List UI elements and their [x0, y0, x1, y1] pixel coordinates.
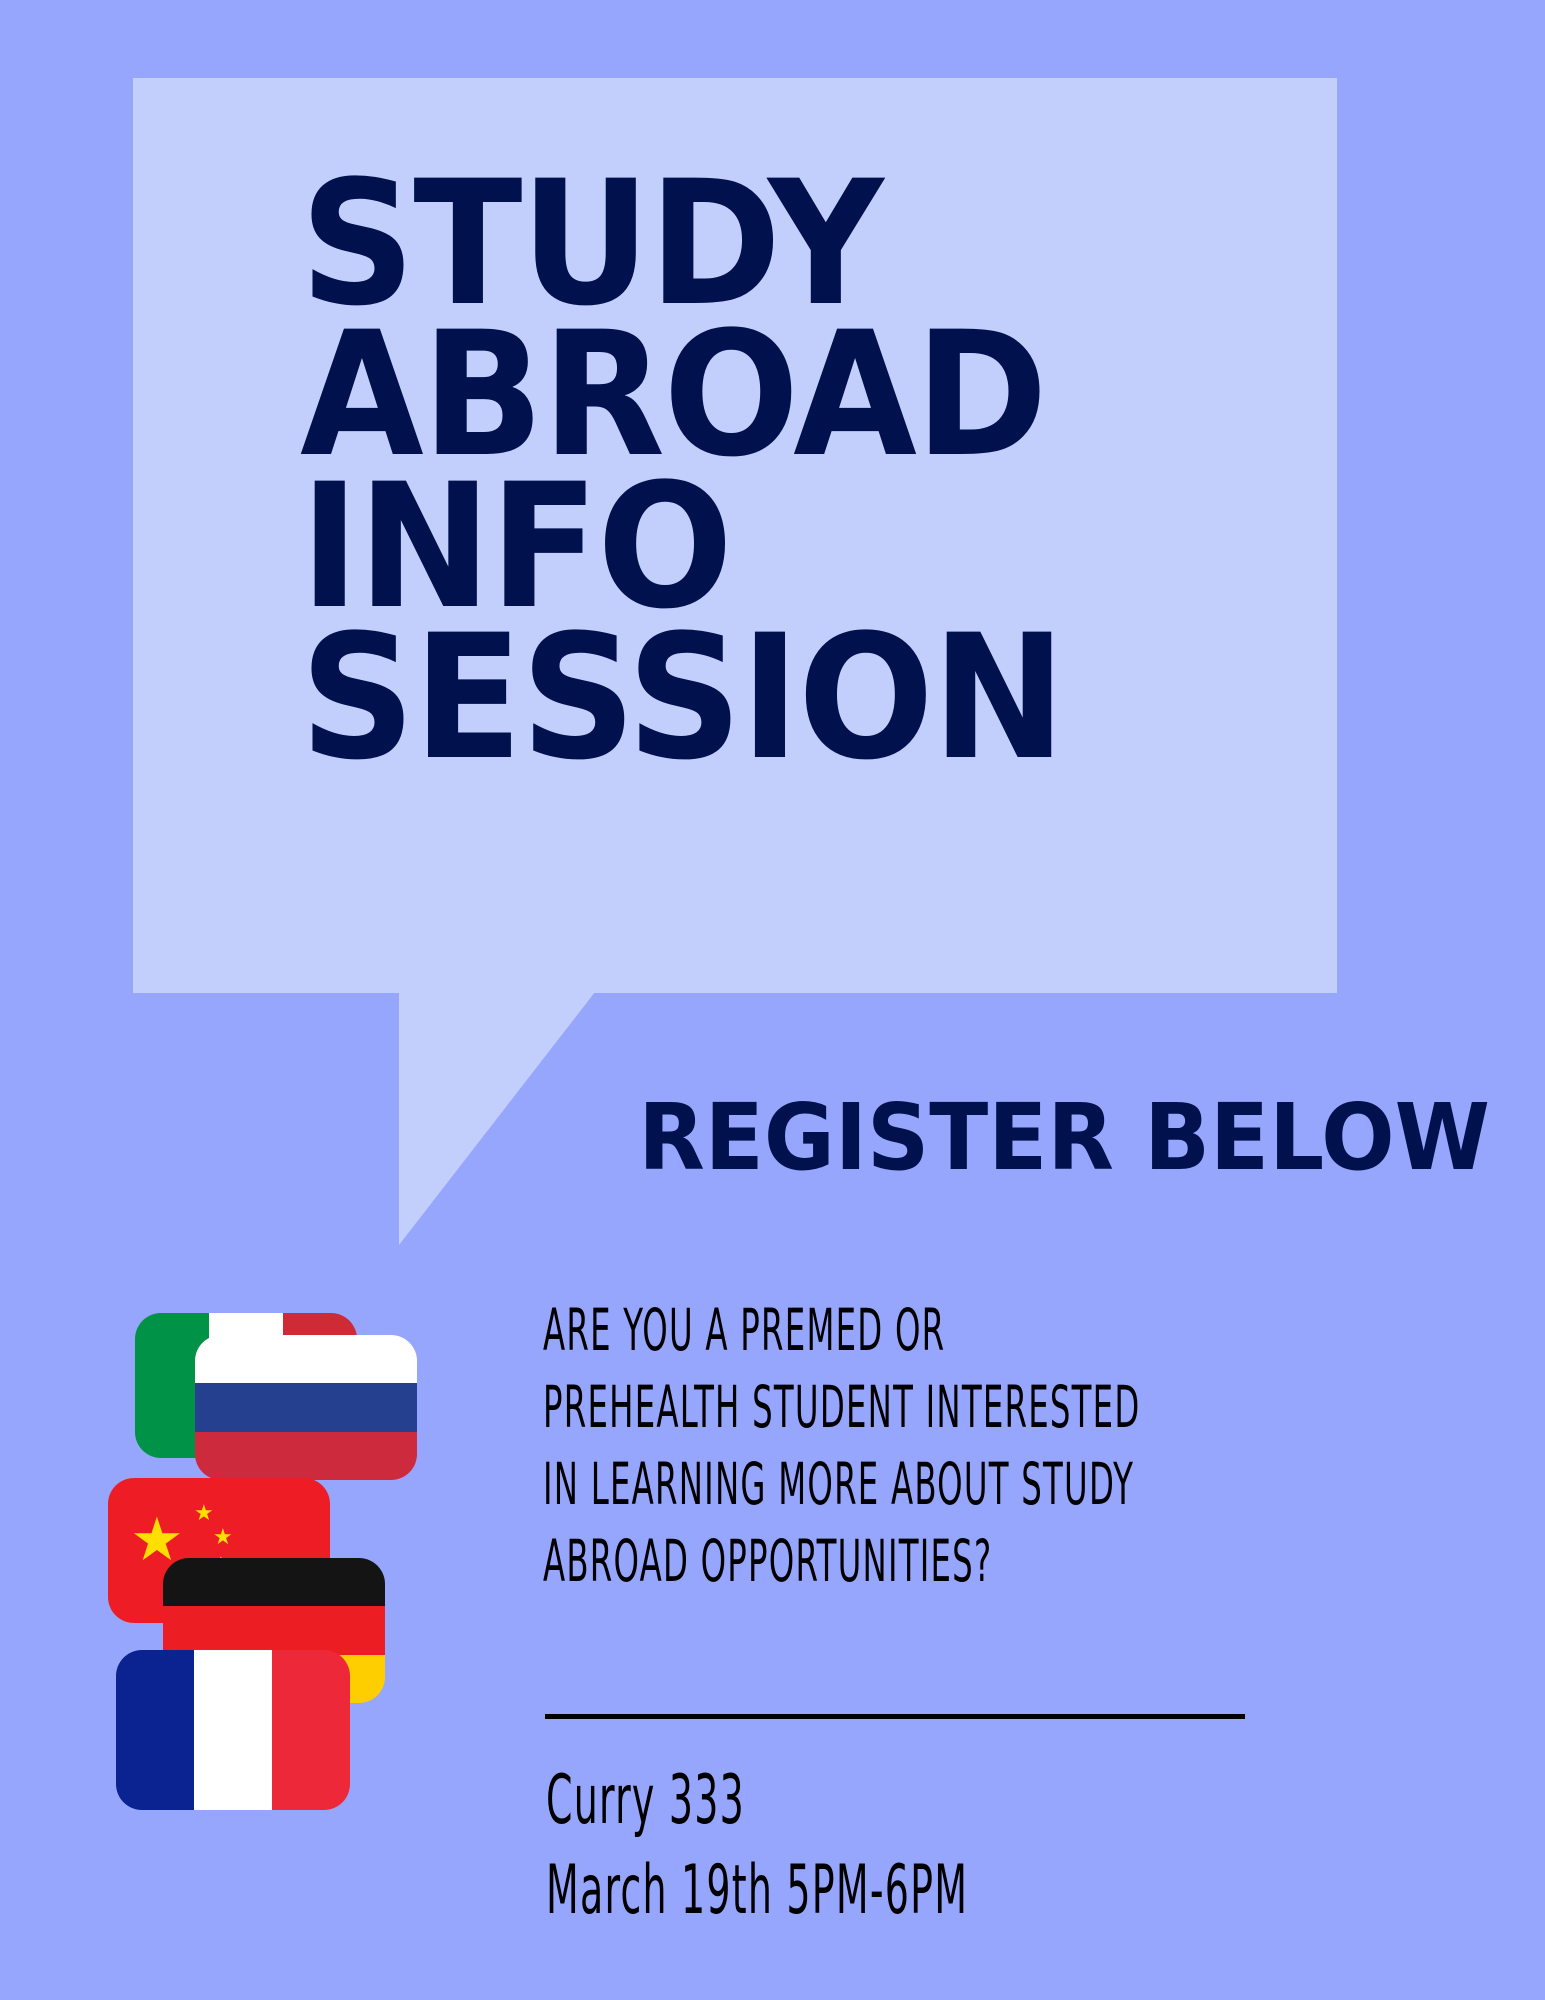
title-line-4: SESSION: [300, 622, 1239, 773]
body-line-1: ARE YOU A PREMED OR: [543, 1292, 1058, 1369]
divider-rule: [545, 1714, 1245, 1719]
flag-band: [195, 1383, 417, 1431]
star-icon: ★: [194, 1502, 214, 1524]
body-copy: ARE YOU A PREMED OR PREHEALTH STUDENT IN…: [543, 1292, 1058, 1601]
flag-band: [195, 1335, 417, 1383]
flag-russia-icon: [195, 1335, 417, 1480]
body-line-4: ABROAD OPPORTUNITIES?: [543, 1523, 1058, 1600]
poster-canvas: STUDY ABROAD INFO SESSION REGISTER BELOW…: [0, 0, 1545, 2000]
event-datetime: March 19th 5PM-6PM: [546, 1846, 1042, 1936]
flag-band: [194, 1650, 272, 1810]
flag-band: [163, 1558, 385, 1606]
body-line-2: PREHEALTH STUDENT INTERESTED: [543, 1369, 1058, 1446]
star-icon: ★: [213, 1526, 233, 1548]
flag-france-icon: [116, 1650, 350, 1810]
event-details: Curry 333 March 19th 5PM-6PM: [546, 1756, 1042, 1936]
event-location: Curry 333: [546, 1756, 1042, 1846]
page-title: STUDY ABROAD INFO SESSION: [300, 168, 1239, 773]
body-line-3: IN LEARNING MORE ABOUT STUDY: [543, 1446, 1058, 1523]
flag-band: [163, 1606, 385, 1654]
register-callout: REGISTER BELOW: [89, 1092, 1490, 1184]
flag-band: [272, 1650, 350, 1810]
flag-band: [116, 1650, 194, 1810]
flag-band: [195, 1432, 417, 1480]
